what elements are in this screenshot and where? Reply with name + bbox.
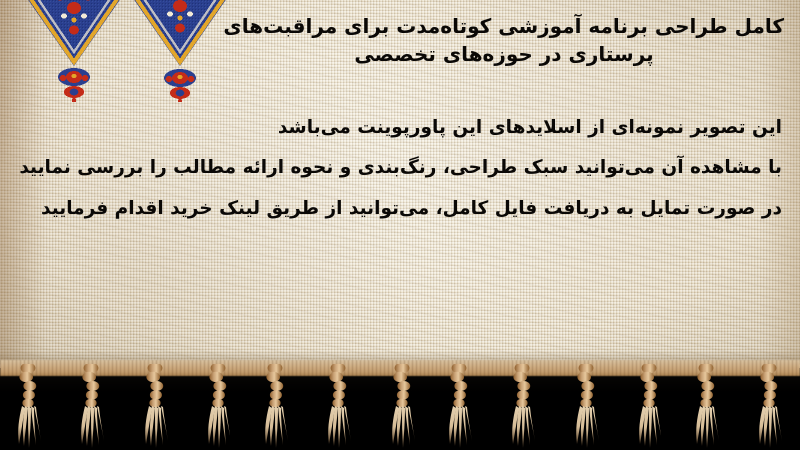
carpet-fringe-tassel <box>262 364 292 450</box>
slide-body-text: این تصویر نمونه‌ای از اسلایدهای این پاور… <box>14 108 782 229</box>
carpet-fringe-band <box>0 350 800 450</box>
persian-medallion-motif-icon <box>126 0 234 102</box>
medallion-motif-group <box>12 0 252 106</box>
carpet-fringe-tassel <box>570 364 600 450</box>
slide-title: کامل طراحی برنامه آموزشی کوتاه‌مدت برای … <box>224 12 784 69</box>
persian-medallion-motif-icon <box>20 0 128 102</box>
slide-title-line-1: کامل طراحی برنامه آموزشی کوتاه‌مدت برای … <box>224 12 784 40</box>
slide-body-line-1: این تصویر نمونه‌ای از اسلایدهای این پاور… <box>14 108 782 148</box>
slide-body-line-3: در صورت تمایل به دریافت فایل کامل، می‌تو… <box>14 189 782 229</box>
carpet-fringe-tassel <box>139 364 169 450</box>
carpet-fringe-tassel <box>508 364 538 450</box>
slide-body-line-2: با مشاهده آن می‌توانید سبک طراحی، رنگ‌بن… <box>14 148 782 188</box>
slide-title-line-2: پرستاری در حوزه‌های تخصصی <box>224 40 784 68</box>
carpet-fringe-tassel <box>693 364 723 450</box>
carpet-fringe-tassel <box>200 364 230 450</box>
carpet-fringe-tassel <box>323 364 353 450</box>
carpet-fringe-tassel <box>631 364 661 450</box>
carpet-fringe-tassel <box>447 364 477 450</box>
carpet-fringe-tassel <box>385 364 415 450</box>
carpet-fringe-tassel <box>77 364 107 450</box>
carpet-fringe-tassel <box>754 364 784 450</box>
slide-canvas: کامل طراحی برنامه آموزشی کوتاه‌مدت برای … <box>0 0 800 450</box>
carpet-fringe-tassel <box>16 364 46 450</box>
